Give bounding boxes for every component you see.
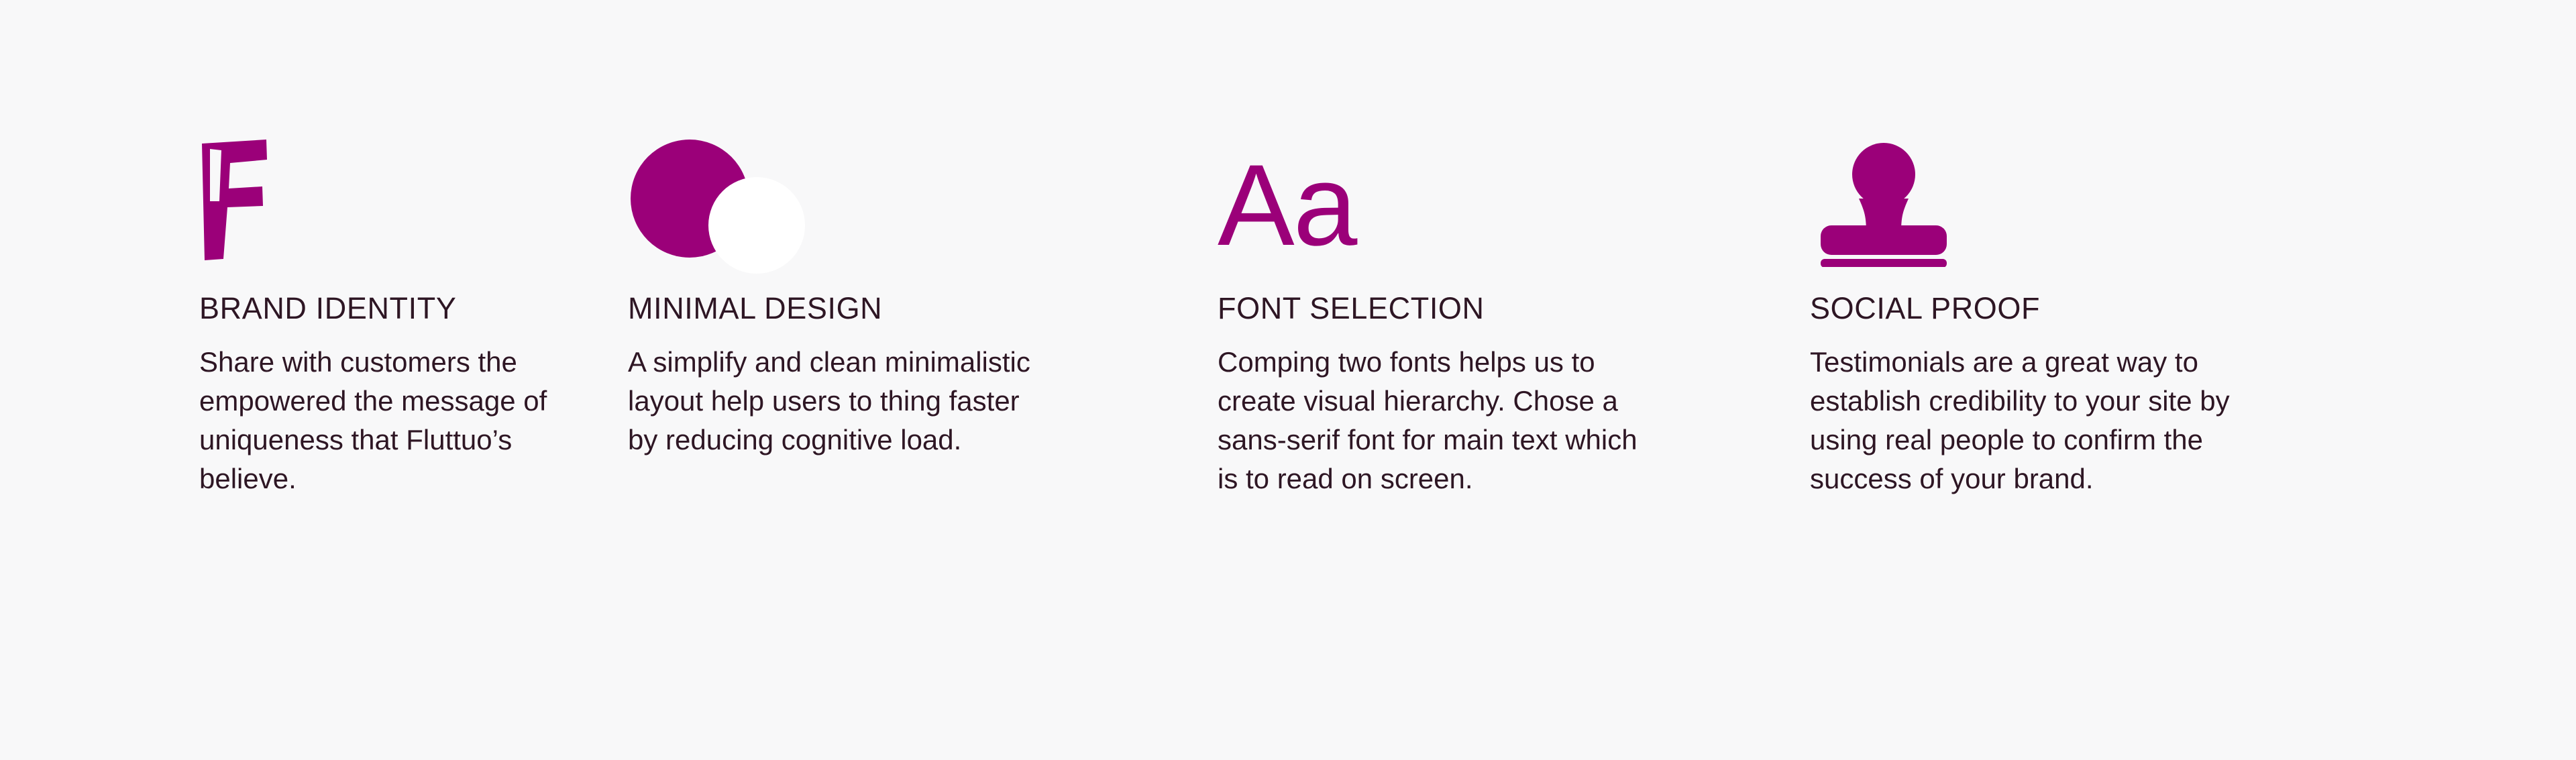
features-row: BRAND IDENTITY Share with customers the … xyxy=(0,0,2576,760)
feature-icon-container xyxy=(1810,140,2576,280)
feature-title: SOCIAL PROOF xyxy=(1810,292,2576,324)
feature-title: BRAND IDENTITY xyxy=(199,292,590,324)
rubber-stamp-icon xyxy=(1810,140,1957,267)
overlapping-circles-icon xyxy=(628,140,816,274)
feature-card-minimal-design: MINIMAL DESIGN A simplify and clean mini… xyxy=(590,0,1181,459)
feature-title: MINIMAL DESIGN xyxy=(628,292,1181,324)
aa-typography-icon: Aa xyxy=(1218,148,1356,263)
feature-icon-container xyxy=(199,140,590,280)
feature-description: A simplify and clean minimalistic layout… xyxy=(628,343,1030,459)
feature-card-social-proof: SOCIAL PROOF Testimonials are a great wa… xyxy=(1771,0,2576,498)
brand-f-logo-icon xyxy=(199,140,286,260)
feature-description: Testimonials are a great way to establis… xyxy=(1810,343,2239,498)
feature-icon-container: Aa xyxy=(1218,140,1771,280)
feature-card-brand-identity: BRAND IDENTITY Share with customers the … xyxy=(0,0,590,498)
feature-icon-container xyxy=(628,140,1181,280)
features-page: BRAND IDENTITY Share with customers the … xyxy=(0,0,2576,760)
feature-description: Share with customers the empowered the m… xyxy=(199,343,615,498)
feature-title: FONT SELECTION xyxy=(1218,292,1771,324)
feature-card-font-selection: Aa FONT SELECTION Comping two fonts help… xyxy=(1181,0,1771,498)
feature-description: Comping two fonts helps us to create vis… xyxy=(1218,343,1640,498)
